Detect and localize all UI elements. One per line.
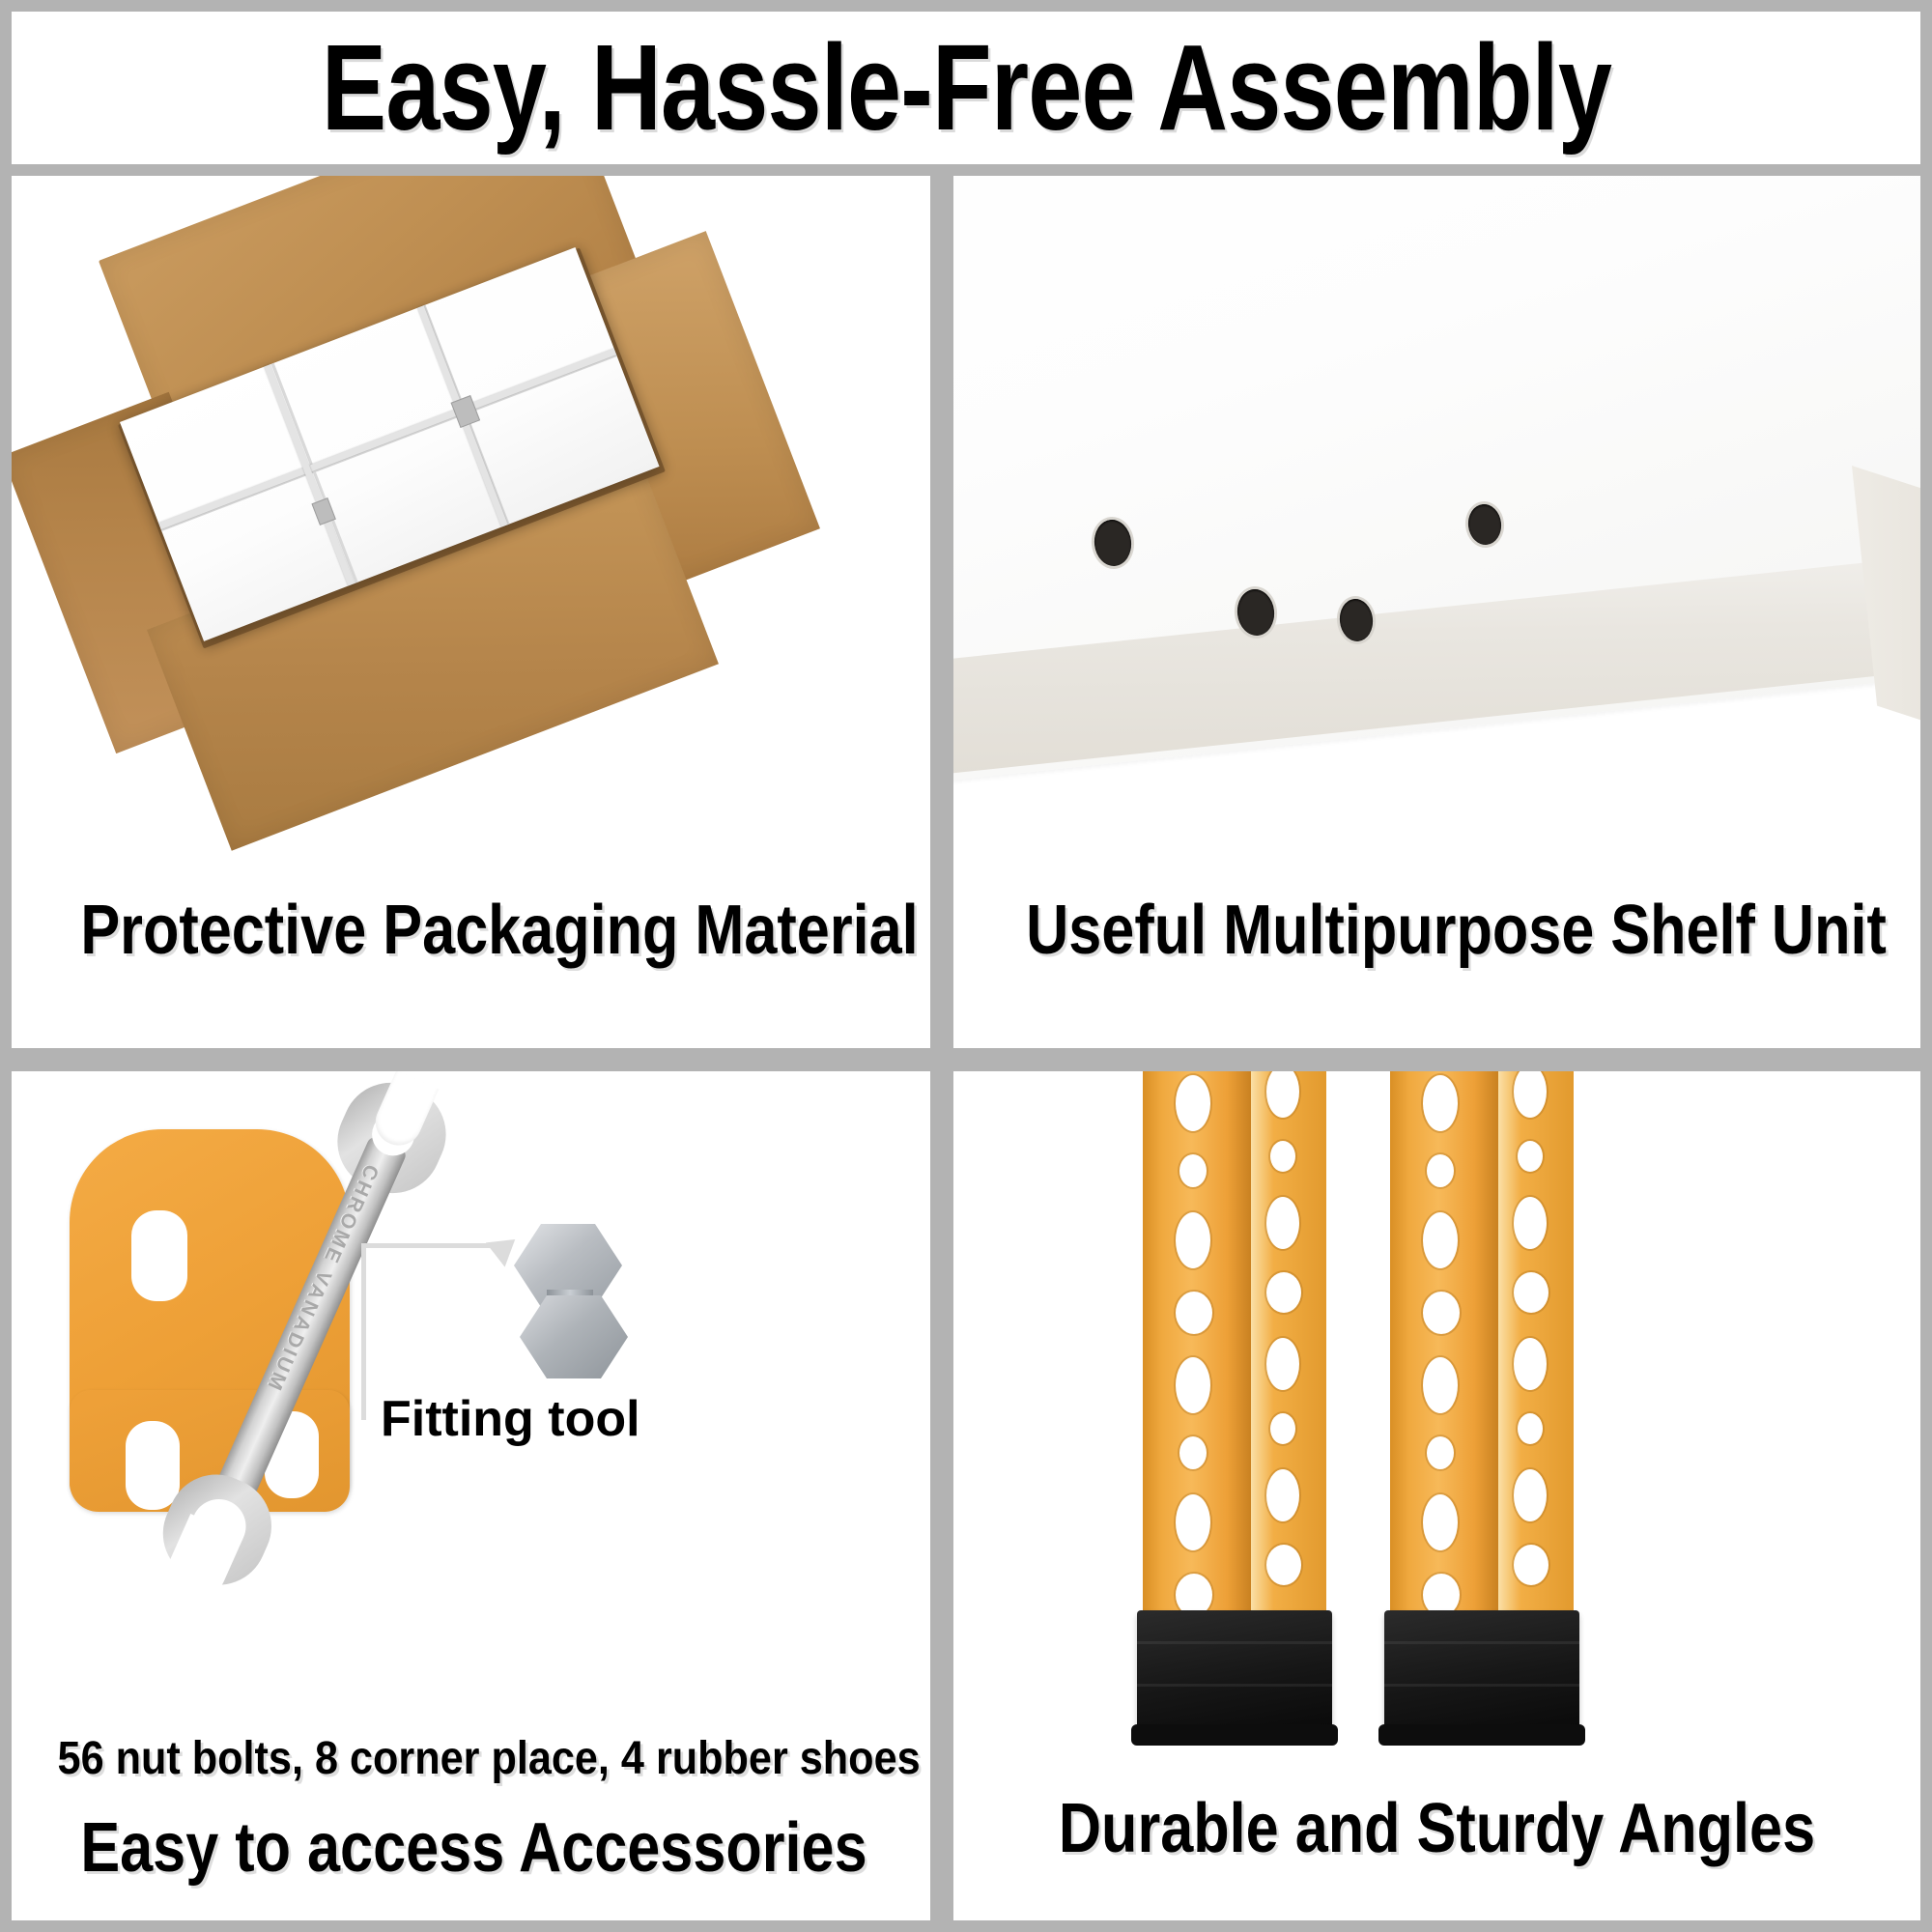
post-slot: [1514, 1545, 1548, 1585]
foot-band: [1137, 1684, 1332, 1687]
post-slot: [1423, 1494, 1458, 1550]
post-slot: [1266, 1338, 1299, 1390]
post-slot: [1270, 1413, 1295, 1444]
rubber-shoe-left: [1137, 1610, 1332, 1736]
panel-protective-packaging: Protective Packaging Material: [12, 176, 930, 1048]
post-slot: [1176, 1212, 1210, 1268]
rubber-shoe-right: [1384, 1610, 1579, 1736]
callout-label-fitting-tool: Fitting tool: [381, 1390, 640, 1448]
post-slot: [1266, 1545, 1301, 1585]
post-slot: [1270, 1141, 1295, 1172]
post-slot: [1266, 1197, 1299, 1249]
caption-angle-posts: Durable and Sturdy Angles: [1026, 1794, 1848, 1863]
post-slot: [1179, 1436, 1207, 1469]
hex-nut: [520, 1295, 628, 1378]
panel-accessories: CHROME VANADIUM Fitting tool 56 nut bolt…: [12, 1071, 930, 1920]
rubber-shoe-left-base: [1131, 1724, 1338, 1746]
post-slot: [1423, 1292, 1460, 1334]
post-slot: [1266, 1272, 1301, 1313]
post-slot: [1423, 1357, 1458, 1413]
bracket-slot-left: [126, 1421, 180, 1510]
caption-protective-packaging: Protective Packaging Material: [80, 895, 861, 965]
foot-band: [1384, 1641, 1579, 1644]
carton-illustration: [12, 176, 930, 920]
post-slot: [1176, 1292, 1212, 1334]
post-slot: [1423, 1212, 1458, 1268]
strap-vertical-left: [264, 364, 355, 585]
caption-accessories: Easy to access Accessories: [80, 1813, 861, 1883]
post-slot: [1514, 1272, 1548, 1313]
post-slot: [1266, 1469, 1299, 1521]
infographic-sheet: Easy, Hassle-Free Assembly: [0, 0, 1932, 1932]
post-slot: [1518, 1413, 1543, 1444]
foot-band: [1137, 1641, 1332, 1644]
rubber-shoe-right-base: [1378, 1724, 1585, 1746]
post-slot: [1179, 1154, 1207, 1187]
post-slot: [1514, 1197, 1547, 1249]
post-slot: [1423, 1075, 1458, 1131]
board-seam-v1: [271, 363, 358, 583]
post-slot: [1514, 1469, 1547, 1521]
post-slot: [1176, 1494, 1210, 1550]
caption-shelf-unit: Useful Multipurpose Shelf Unit: [1026, 895, 1848, 965]
photo-accessories: CHROME VANADIUM Fitting tool: [12, 1071, 930, 1920]
caption-accessories-list: 56 nut bolts, 8 corner place, 4 rubber s…: [58, 1736, 885, 1782]
post-slot: [1514, 1338, 1547, 1390]
post-slot: [1176, 1075, 1210, 1131]
panel-angle-posts: Durable and Sturdy Angles: [953, 1071, 1920, 1920]
bracket-slot-top: [131, 1210, 187, 1301]
header-banner: Easy, Hassle-Free Assembly: [12, 12, 1920, 164]
post-slot: [1176, 1357, 1210, 1413]
foot-band: [1384, 1684, 1579, 1687]
panel-shelf-unit: Useful Multipurpose Shelf Unit: [953, 176, 1920, 1048]
post-slot: [1518, 1141, 1543, 1172]
post-slot: [1427, 1154, 1454, 1187]
post-slot: [1427, 1436, 1454, 1469]
page-title: Easy, Hassle-Free Assembly: [321, 27, 1610, 149]
hex-bolt-and-nut: [514, 1224, 622, 1388]
